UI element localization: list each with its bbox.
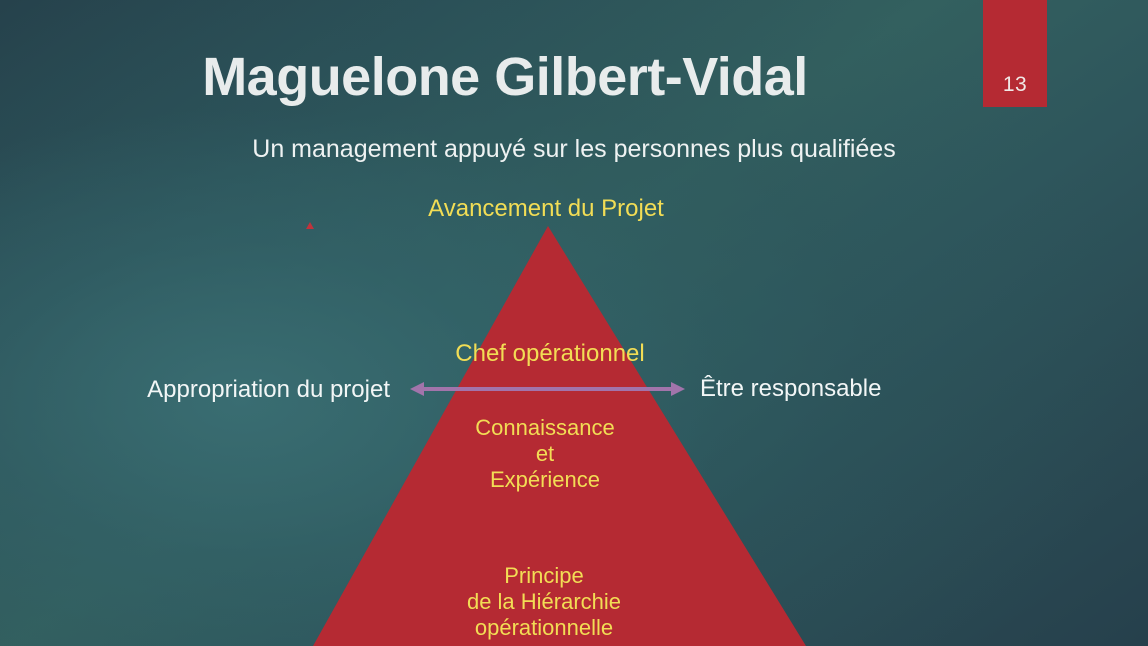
label-principe-line1: Principe [0,563,1088,589]
slide-title: Maguelone Gilbert-Vidal [0,46,1010,108]
label-etre-responsable: Être responsable [700,375,1040,403]
label-appropriation-du-projet: Appropriation du projet [60,376,390,404]
label-principe-hierarchie: Principe de la Hiérarchie opérationnelle [0,563,1088,641]
arrow-head-right-icon [671,382,685,396]
label-connaissance-line1: Connaissance [0,415,1090,441]
label-connaissance-experience: Connaissance et Expérience [0,415,1090,493]
label-apex: Avancement du Projet [0,195,1092,223]
label-connaissance-line2: et [0,441,1090,467]
label-connaissance-line3: Expérience [0,467,1090,493]
horizontal-double-arrow [410,382,685,396]
slide-subtitle: Un management appuyé sur les personnes p… [0,135,1148,164]
presentation-slide: 13 Maguelone Gilbert-Vidal Un management… [0,0,1148,646]
label-principe-line3: opérationnelle [0,615,1088,641]
arrow-head-left-icon [410,382,424,396]
label-chef-operationnel: Chef opérationnel [0,340,1100,368]
label-principe-line2: de la Hiérarchie [0,589,1088,615]
